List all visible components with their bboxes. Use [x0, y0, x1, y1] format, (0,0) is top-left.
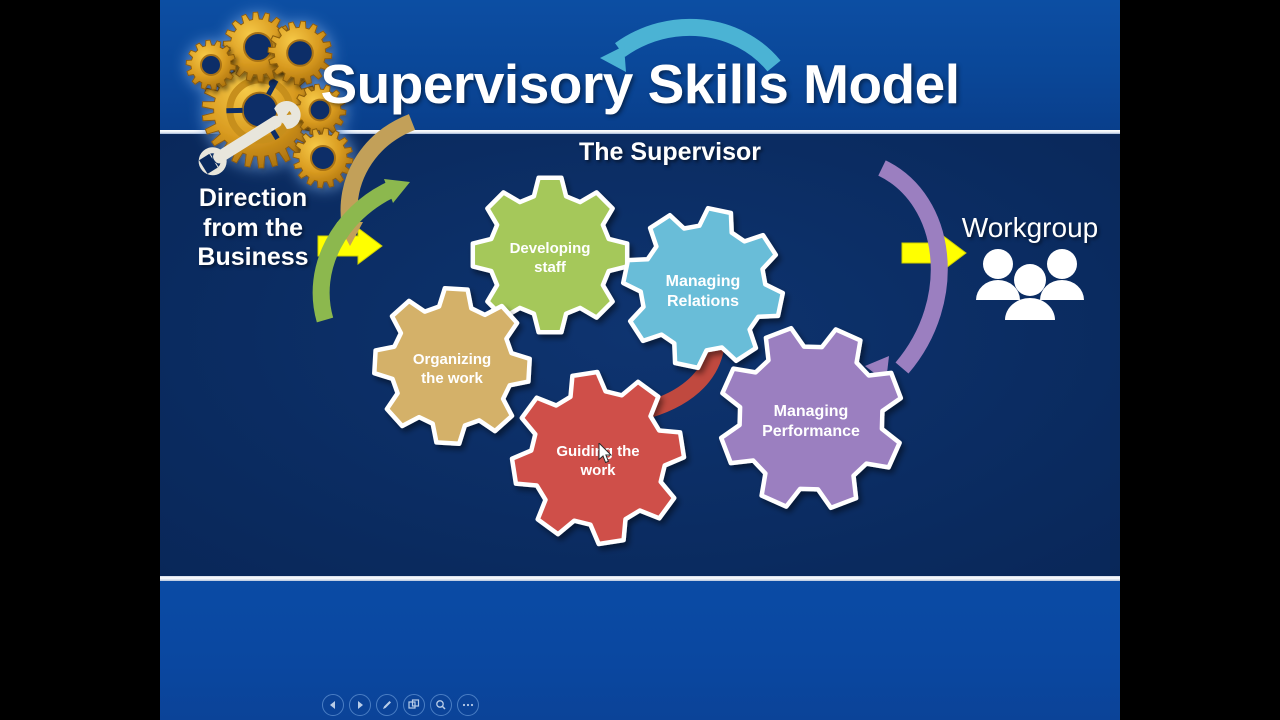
- toolbar-button-zoom[interactable]: [430, 694, 452, 716]
- toolbar-button-more[interactable]: [457, 694, 479, 716]
- ellipsis-icon: [462, 702, 474, 708]
- gear-group: DevelopingstaffManagingRelationsManaging…: [374, 178, 901, 544]
- gear-label-line2: Performance: [762, 423, 860, 440]
- arrow-cyan-right: [620, 27, 774, 66]
- gear-label-line2: Relations: [667, 293, 739, 310]
- gear-managing-relations[interactable]: ManagingRelations: [623, 208, 783, 368]
- footer-band: [160, 581, 1120, 720]
- slides-icon: [408, 699, 420, 711]
- toolbar-button-pen[interactable]: [376, 694, 398, 716]
- player-toolbar[interactable]: [322, 694, 479, 716]
- arrow-purple-down: [882, 168, 939, 368]
- pen-icon: [381, 699, 393, 711]
- gear-organizing-the-work[interactable]: Organizingthe work: [374, 288, 529, 443]
- wrench-icon: [196, 96, 306, 179]
- triangle-right-icon: [355, 700, 365, 710]
- gear-label-line2: the work: [421, 370, 483, 387]
- magnifier-icon: [435, 699, 447, 711]
- gear-label-line1: Managing: [666, 273, 741, 290]
- gear-label-line2: staff: [534, 259, 567, 276]
- toolbar-button-previous[interactable]: [322, 694, 344, 716]
- gear-label-line1: Organizing: [413, 351, 491, 368]
- triangle-left-icon: [328, 700, 338, 710]
- toolbar-button-next[interactable]: [349, 694, 371, 716]
- toolbar-button-slides[interactable]: [403, 694, 425, 716]
- mouse-cursor: [598, 443, 614, 465]
- people-group-icon: [976, 249, 1084, 320]
- screen: Supervisory Skills Model The Supervisor …: [0, 0, 1280, 720]
- gear-label-line1: Developing: [510, 240, 591, 257]
- presentation-slide[interactable]: Supervisory Skills Model The Supervisor …: [160, 0, 1120, 720]
- gear-label-line1: Managing: [774, 403, 849, 420]
